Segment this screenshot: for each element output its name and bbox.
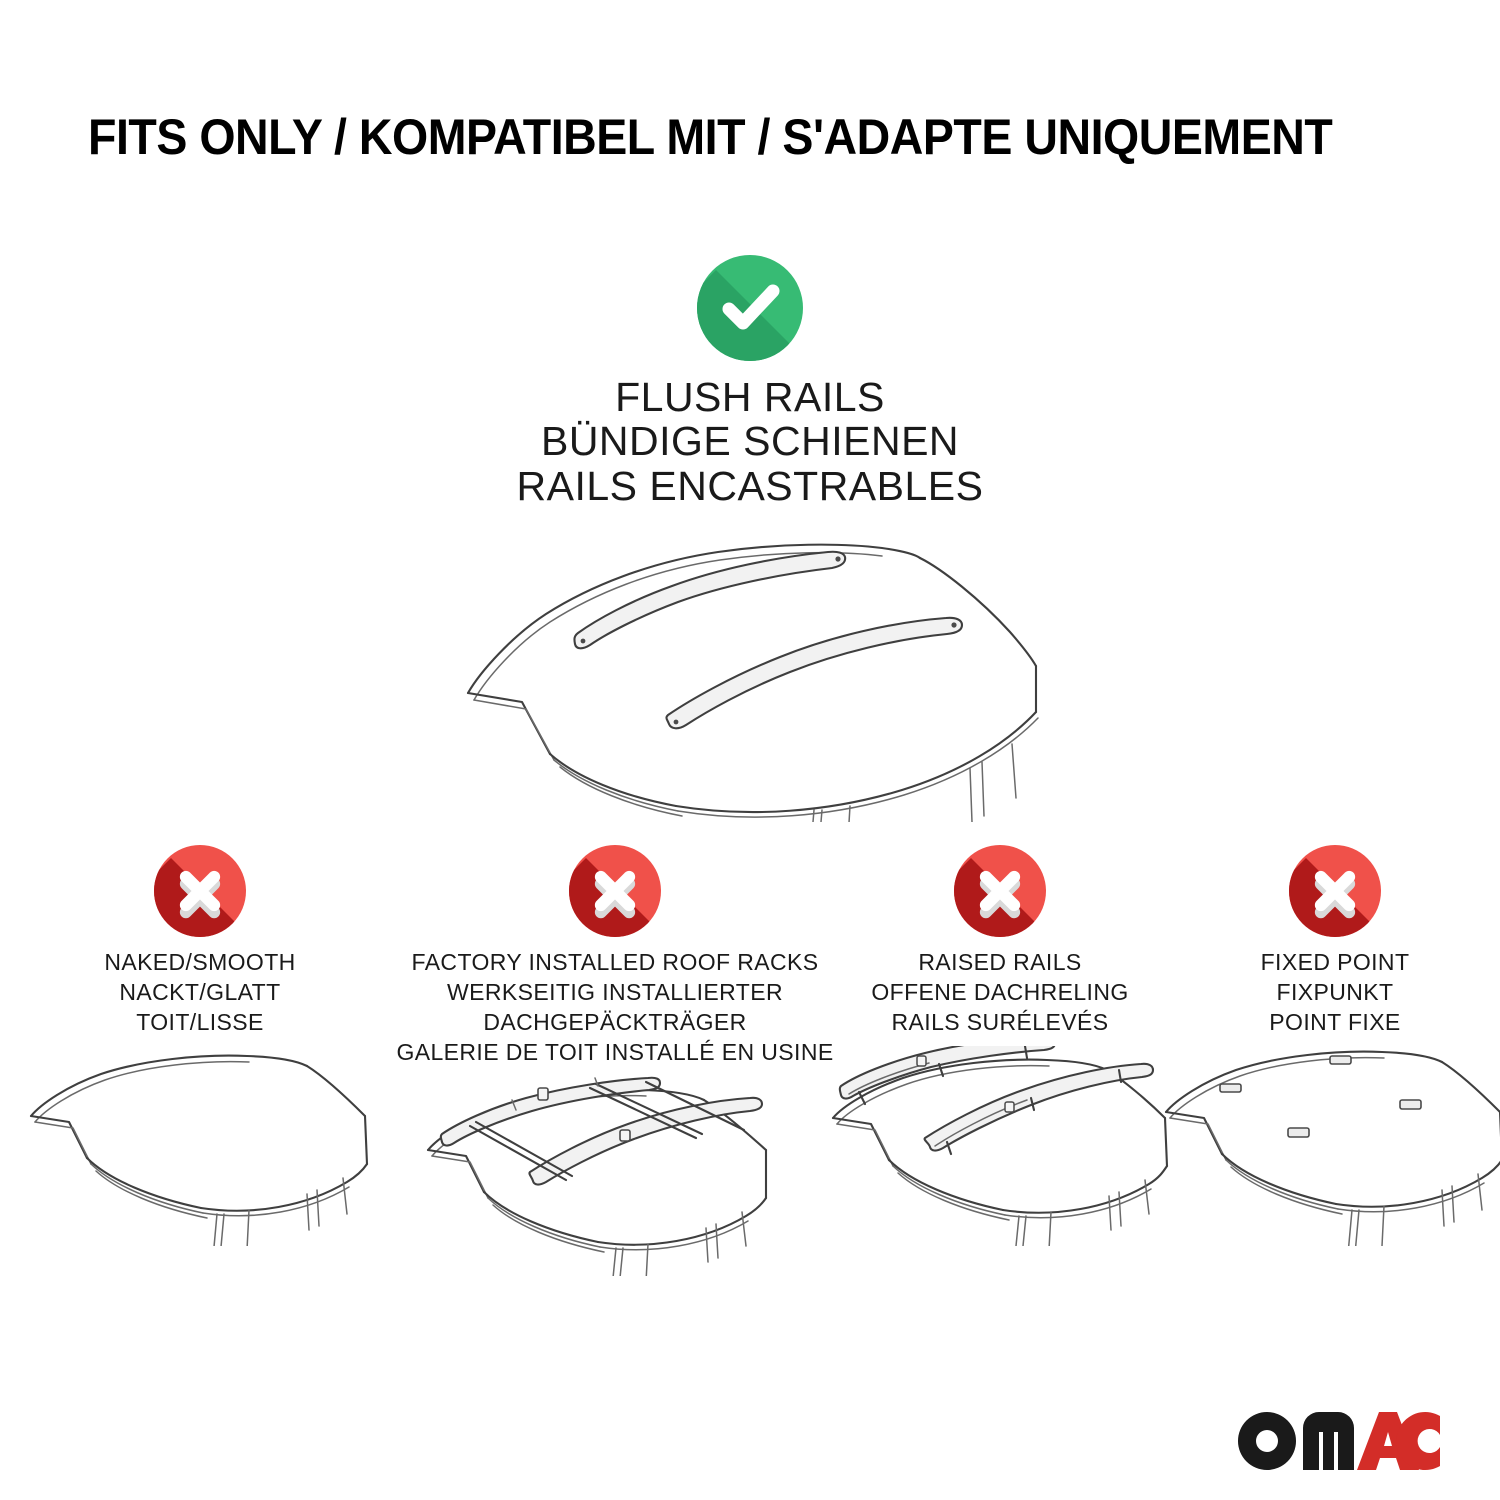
incompatible-label-de: NACKT/GLATT [104,978,295,1008]
incompatible-label-fr: GALERIE DE TOIT INSTALLÉ EN USINE [396,1038,833,1068]
incompatible-labels: FACTORY INSTALLED ROOF RACKS WERKSEITIG … [396,948,833,1068]
car-roof-naked-smooth-illustration [25,1046,375,1246]
incompatible-label-fr: RAILS SURÉLEVÉS [871,1008,1128,1038]
compatible-label-en: FLUSH RAILS [517,375,984,419]
cross-mark-glyph [1289,845,1381,937]
incompatible-labels: NAKED/SMOOTH NACKT/GLATT TOIT/LISSE [104,948,295,1038]
check-circle-icon [697,255,803,361]
cross-circle-icon [954,845,1046,937]
cross-circle-icon [1289,845,1381,937]
incompatible-label-fr: POINT FIXE [1261,1008,1410,1038]
compatible-labels: FLUSH RAILS BÜNDIGE SCHIENEN RAILS ENCAS… [517,375,984,508]
omac-logo [1237,1410,1442,1472]
car-roof-raised-rails-illustration [825,1046,1175,1246]
compatible-label-fr: RAILS ENCASTRABLES [517,464,984,508]
incompatible-label-de: OFFENE DACHRELING [871,978,1128,1008]
incompatible-label-de-2: DACHGEPÄCKTRÄGER [396,1008,833,1038]
cross-mark-glyph [154,845,246,937]
fitment-info-graphic: FITS ONLY / KOMPATIBEL MIT / S'ADAPTE UN… [0,0,1500,1500]
logo-letter-m [1303,1412,1354,1470]
incompatible-label-fr: TOIT/LISSE [104,1008,295,1038]
check-mark-glyph [697,255,803,361]
compatible-section: FLUSH RAILS BÜNDIGE SCHIENEN RAILS ENCAS… [0,255,1500,822]
incompatible-section: NAKED/SMOOTH NACKT/GLATT TOIT/LISSE [0,845,1500,1276]
incompatible-label-en: NAKED/SMOOTH [104,948,295,978]
incompatible-label-de: FIXPUNKT [1261,978,1410,1008]
cross-mark-glyph [954,845,1046,937]
incompatible-label-en: RAISED RAILS [871,948,1128,978]
incompatible-item-factory-roof-racks: FACTORY INSTALLED ROOF RACKS WERKSEITIG … [400,845,830,1276]
incompatible-label-en: FACTORY INSTALLED ROOF RACKS [396,948,833,978]
logo-letter-o [1238,1412,1296,1470]
incompatible-labels: FIXED POINT FIXPUNKT POINT FIXE [1261,948,1410,1038]
incompatible-item-fixed-point: FIXED POINT FIXPUNKT POINT FIXE [1170,845,1500,1246]
incompatible-labels: RAISED RAILS OFFENE DACHRELING RAILS SUR… [871,948,1128,1038]
incompatible-label-de-1: WERKSEITIG INSTALLIERTER [396,978,833,1008]
car-roof-fixed-point-illustration [1160,1046,1500,1246]
incompatible-label-en: FIXED POINT [1261,948,1410,978]
cross-mark-glyph [569,845,661,937]
incompatible-item-raised-rails: RAISED RAILS OFFENE DACHRELING RAILS SUR… [830,845,1170,1246]
incompatible-item-naked-smooth: NAKED/SMOOTH NACKT/GLATT TOIT/LISSE [0,845,400,1246]
page-title: FITS ONLY / KOMPATIBEL MIT / S'ADAPTE UN… [88,108,1353,166]
compatible-label-de: BÜNDIGE SCHIENEN [517,419,984,463]
cross-circle-icon [154,845,246,937]
cross-circle-icon [569,845,661,937]
car-roof-flush-rails-illustration [450,522,1050,822]
car-roof-factory-roof-racks-illustration [420,1076,810,1276]
omac-logo-mark [1237,1410,1442,1472]
